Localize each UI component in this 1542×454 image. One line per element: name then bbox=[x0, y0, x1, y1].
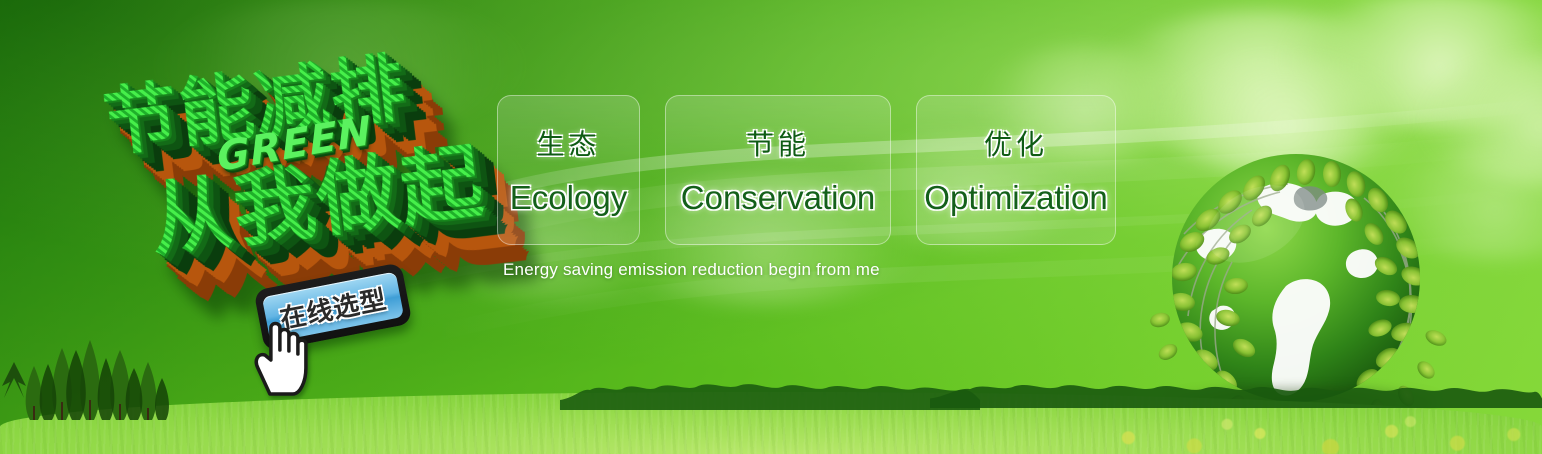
cloud-icon bbox=[1290, 0, 1542, 127]
headline-artwork: 节能减排 从我做起 GREEN bbox=[82, 9, 529, 308]
feature-card-ecology[interactable]: 生态 Ecology bbox=[497, 95, 640, 245]
feature-card-cn-label: 生态 bbox=[536, 123, 600, 163]
hand-pointer-icon bbox=[248, 310, 322, 396]
feature-cards: 生态 Ecology 节能 Conservation 优化 Optimizati… bbox=[497, 95, 1116, 245]
feature-card-cn-label: 优化 bbox=[984, 123, 1048, 163]
green-energy-banner: 节能减排 从我做起 GREEN 在线选型 生态 Ecology 节能 Conse… bbox=[0, 0, 1542, 454]
feature-card-en-label: Conservation bbox=[681, 179, 875, 217]
feature-card-cn-label: 节能 bbox=[746, 123, 810, 163]
leaf-covered-earth-globe-icon bbox=[1148, 138, 1448, 438]
tagline: Energy saving emission reduction begin f… bbox=[503, 260, 880, 280]
feature-card-en-label: Ecology bbox=[510, 179, 627, 217]
leaf-litter bbox=[1072, 400, 1542, 454]
feature-card-en-label: Optimization bbox=[924, 179, 1107, 217]
feature-card-conservation[interactable]: 节能 Conservation bbox=[665, 95, 891, 245]
feature-card-optimization[interactable]: 优化 Optimization bbox=[916, 95, 1116, 245]
